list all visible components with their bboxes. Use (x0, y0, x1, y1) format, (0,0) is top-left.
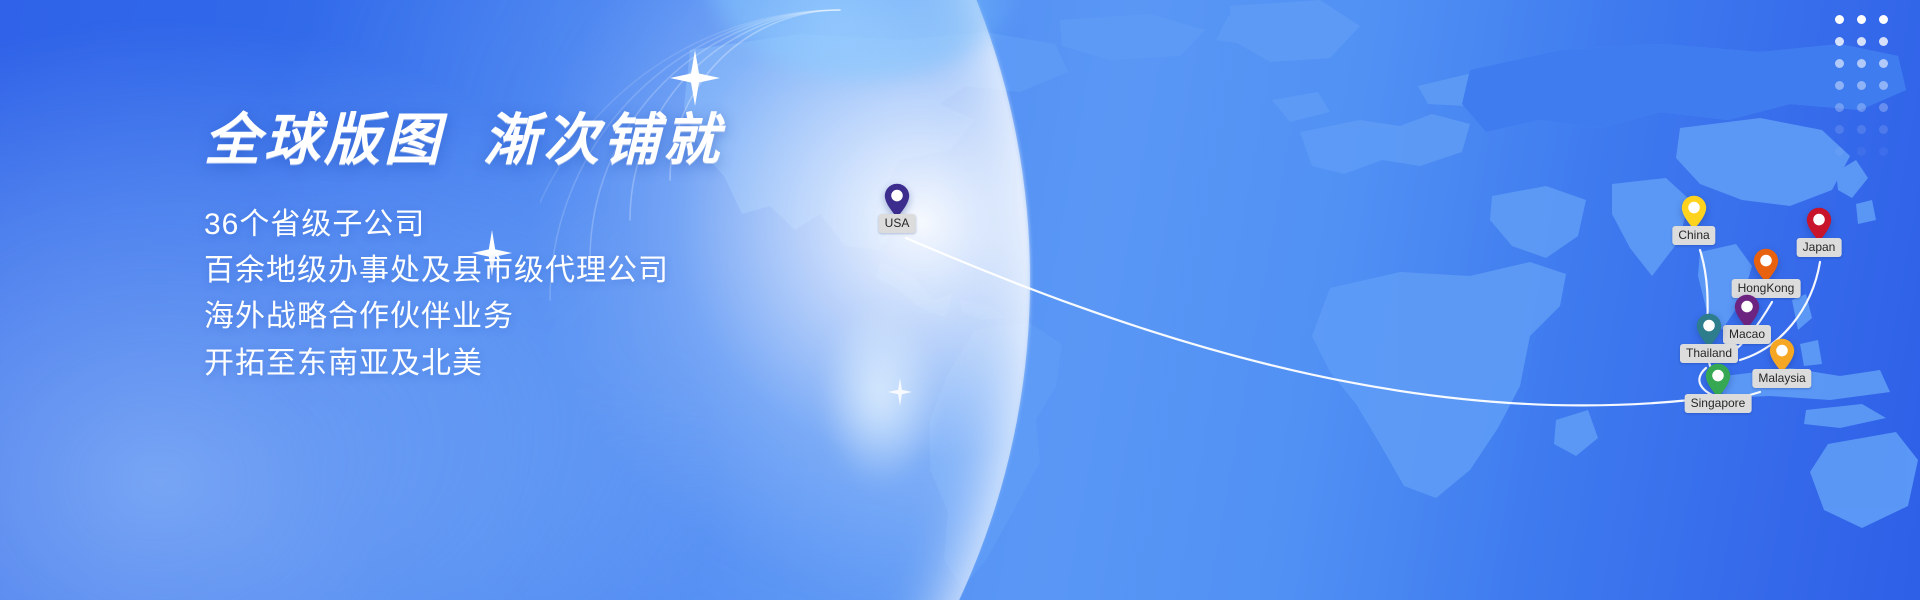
map-marker-label: China (1672, 226, 1715, 245)
list-item: 36个省级子公司 (204, 202, 964, 248)
list-item: 海外战略合作伙伴业务 (204, 294, 964, 340)
map-marker-label: USA (879, 214, 916, 233)
map-marker-label: Singapore (1685, 394, 1752, 413)
location-pin-icon (1734, 294, 1760, 329)
location-pin-icon (1696, 313, 1722, 348)
map-marker-label: Thailand (1680, 344, 1738, 363)
map-marker-thailand[interactable]: Thailand (1696, 313, 1722, 348)
location-pin-icon (884, 183, 910, 218)
location-pin-icon (1753, 248, 1779, 283)
location-pin-icon (1705, 363, 1731, 398)
location-pin-icon (1806, 207, 1832, 242)
location-pin-icon (1681, 195, 1707, 230)
map-marker-usa[interactable]: USA (884, 183, 910, 218)
highlight-list: 36个省级子公司 百余地级办事处及县市级代理公司 海外战略合作伙伴业务 开拓至东… (204, 202, 964, 387)
map-marker-japan[interactable]: Japan (1806, 207, 1832, 242)
map-marker-hongkong[interactable]: HongKong (1753, 248, 1779, 283)
list-item: 百余地级办事处及县市级代理公司 (204, 248, 964, 294)
location-pin-icon (1769, 338, 1795, 373)
map-marker-label: Malaysia (1752, 369, 1811, 388)
map-marker-malaysia[interactable]: Malaysia (1769, 338, 1795, 373)
map-marker-label: Japan (1797, 238, 1842, 257)
list-item: 开拓至东南亚及北美 (204, 341, 964, 387)
map-marker-china[interactable]: China (1681, 195, 1707, 230)
dot-grid-icon (1828, 8, 1894, 162)
map-marker-macao[interactable]: Macao (1734, 294, 1760, 329)
page-title: 全球版图 渐次铺就 (204, 112, 964, 168)
map-marker-singapore[interactable]: Singapore (1705, 363, 1731, 398)
banner-copy: 全球版图 渐次铺就 36个省级子公司 百余地级办事处及县市级代理公司 海外战略合… (204, 112, 964, 387)
global-footprint-banner: 全球版图 渐次铺就 36个省级子公司 百余地级办事处及县市级代理公司 海外战略合… (0, 0, 1920, 600)
map-marker-label: Macao (1723, 325, 1771, 344)
